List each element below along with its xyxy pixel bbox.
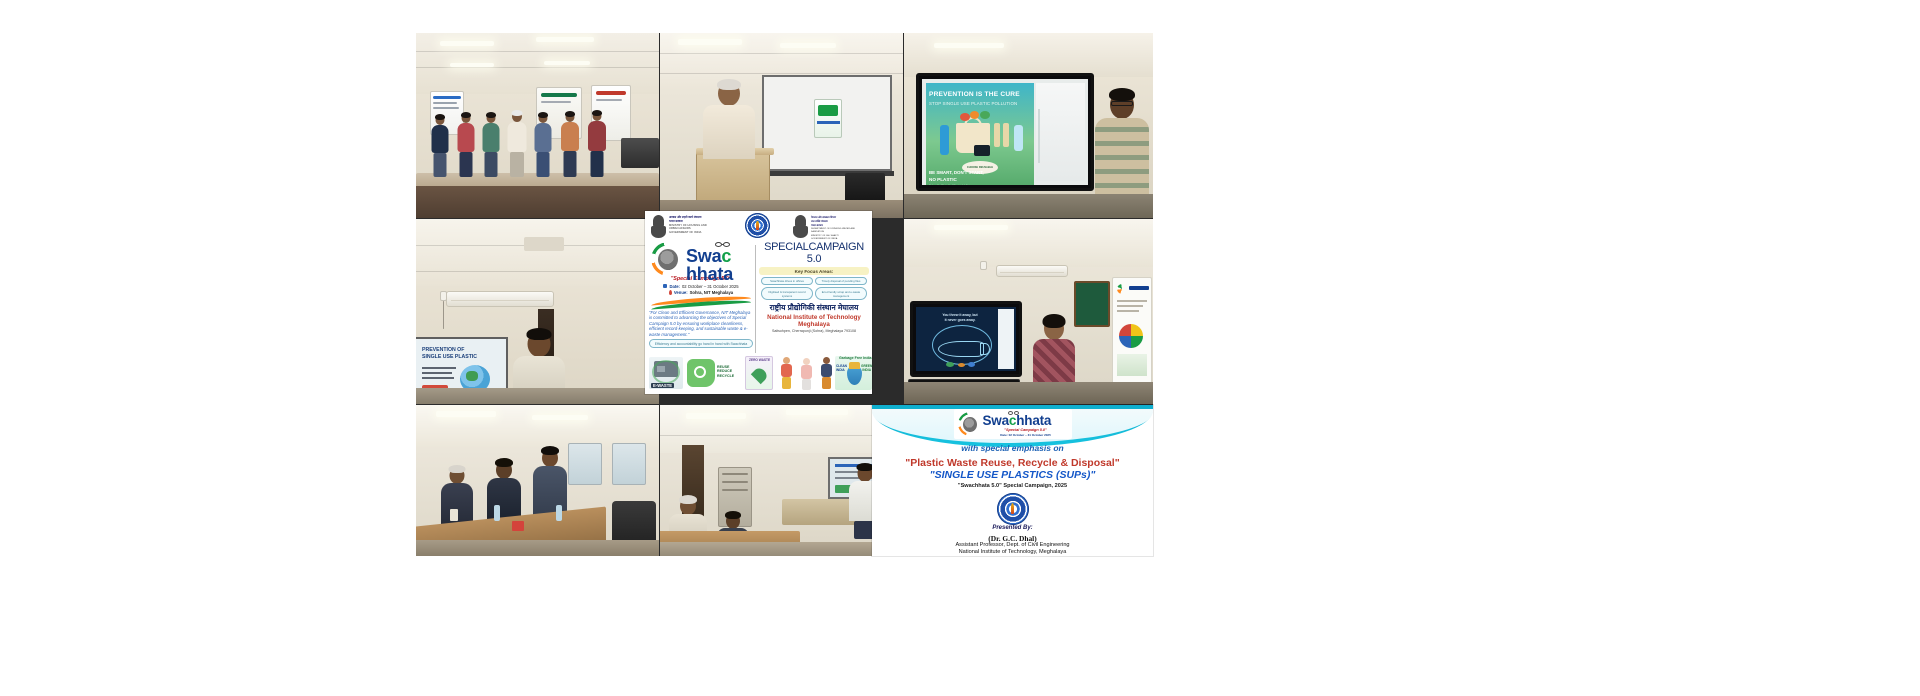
poster-bottom-tagline: "Special Campaign 5.0" xyxy=(983,428,1069,432)
icon-label-green-india: GREEN INDIA xyxy=(861,365,871,372)
photo-prevention-of-single-use-plastic-slide: PREVENTION OF SINGLE USE PLASTIC xyxy=(416,219,659,404)
person-speaker xyxy=(700,81,758,159)
institute-name-hindi: राष्ट्रीय प्रौद्योगिकी संस्थान मेघालय xyxy=(759,303,869,313)
icon-label-garbage-free-india: Garbage Free India xyxy=(839,356,872,360)
tv-poster-footer-line2: NO PLASTIC xyxy=(929,177,957,182)
swachhata-special-campaign-poster: आवास और शहरी कार्य मंत्रालय भारत सरकार M… xyxy=(645,211,872,394)
photo-prevention-is-the-cure-display: PREVENTION IS THE CURE STOP SINGLE USE P… xyxy=(904,33,1153,218)
poster-date-value: 02 October – 31 October 2025 xyxy=(682,284,739,289)
presented-by-label: Presented By: xyxy=(872,525,1153,531)
person xyxy=(430,115,450,177)
ministry-right-hindi3: भारत सरकार xyxy=(811,223,869,227)
tricolor-swoosh xyxy=(649,297,753,309)
calendar-icon xyxy=(663,284,667,288)
india-emblem-icon xyxy=(792,214,809,240)
air-conditioner xyxy=(446,291,554,307)
institute-name-english: National Institute of Technology Meghala… xyxy=(759,314,869,328)
poster-pledge-text: "For Clean and Efficient Governance, NIT… xyxy=(649,310,753,338)
tv-poster-footer-line1: BE SMART, DON'T START, xyxy=(929,170,984,175)
poster-efficiency-strip: Efficiency and accountability go hand in… xyxy=(649,339,753,348)
ministry-left-hindi2: भारत सरकार xyxy=(669,219,707,223)
poster-date-label: Date: xyxy=(669,284,679,289)
nit-meghalaya-logo-icon xyxy=(745,213,770,238)
campaign-line: "Swachhata 5.0" Special Campaign, 2025 xyxy=(872,483,1153,489)
ministry-right-line1: DEPARTMENT OF DRINKING WATER AND SANITAT… xyxy=(811,228,869,235)
ministry-left-line3: GOVERNMENT OF INDIA xyxy=(669,231,707,234)
topic-line-2: "SINGLE USE PLASTICS (SUPs)" xyxy=(872,469,1153,481)
person xyxy=(559,112,580,177)
icon-label-reuse-reduce-recycle: REUSE REDUCE RECYCLE xyxy=(717,365,743,378)
campaign-title: SPECIALCAMPAIGN 5.0 xyxy=(759,241,869,265)
poster-venue-label: Venue: xyxy=(674,290,688,295)
poster-header: आवास और शहरी कार्य मंत्रालय भारत सरकार M… xyxy=(645,211,872,237)
location-pin-icon xyxy=(669,290,672,295)
emphasis-line: with special emphasis on xyxy=(872,443,1153,453)
swachhata-standee xyxy=(1112,277,1152,385)
person xyxy=(456,113,476,177)
focus-area-item: Digitised & transparent record systems xyxy=(761,287,813,299)
screen-title-line2: SINGLE USE PLASTIC xyxy=(422,354,477,360)
air-conditioner xyxy=(996,265,1068,277)
institute-address: Saitsohpen, Cherrapunji (Sohra), Meghala… xyxy=(759,329,869,333)
person xyxy=(506,111,528,177)
topic-line-1: "Plastic Waste Reuse, Recycle & Disposal… xyxy=(872,457,1153,469)
poster-brand-wordmark: Swachhata xyxy=(686,247,753,283)
ocean-slide-line1: You threw it away, but xyxy=(924,313,996,317)
focus-area-item: Swachhata drives in offices xyxy=(761,277,813,285)
icon-label-clean-india: CLEAN INDIA xyxy=(836,365,846,372)
photo-ocean-plastic-awareness-display: You threw it away, but it never goes awa… xyxy=(904,219,1153,404)
poster-bottom-wordmark: Swachhata xyxy=(983,414,1052,428)
key-focus-areas-label: Key Focus Areas: xyxy=(759,267,869,275)
person xyxy=(533,113,553,177)
wall-mounted-tv: You threw it away, but it never goes awa… xyxy=(910,301,1022,377)
ocean-slide-line2: it never goes away. xyxy=(924,318,996,322)
presenter-role: Assistant Professor, Dept. of Civil Engi… xyxy=(872,542,1153,548)
photo-audience-at-conference-table xyxy=(416,405,659,556)
tv-poster-title-line1: PREVENTION IS THE CURE xyxy=(929,91,1031,98)
india-emblem-icon xyxy=(650,214,667,240)
photo-speaker-in-classroom xyxy=(660,405,903,556)
person-seated xyxy=(486,461,522,519)
presenter-org: National Institute of Technology, Meghal… xyxy=(872,549,1153,555)
screen-title-line1: PREVENTION OF xyxy=(422,347,464,353)
poster-icon-strip: E-WASTE REUSE REDUCE RECYCLE ZERO WASTE xyxy=(649,355,868,391)
focus-area-item: Timely disposal of pending files xyxy=(815,277,867,285)
poster-bottom-brand: Swachhata "Special Campaign 5.0" Date: 0… xyxy=(954,409,1072,439)
poster-venue-value: Sohra, NIT Meghalaya xyxy=(690,290,734,295)
nit-meghalaya-logo-icon xyxy=(997,493,1029,525)
focus-area-item: Eco-friendly scrap and e-waste managemen… xyxy=(815,287,867,299)
projector-screen xyxy=(762,75,892,171)
tv-poster-title-line2: STOP SINGLE USE PLASTIC POLLUTION xyxy=(929,101,1031,106)
poster-campaign-panel: SPECIALCAMPAIGN 5.0 Key Focus Areas: Swa… xyxy=(759,241,869,333)
photo-collage: PREVENTION IS THE CURE STOP SINGLE USE P… xyxy=(416,33,1153,556)
poster-bottom-dates: Date: 02 October – 31 October 2025 xyxy=(983,433,1069,437)
person xyxy=(586,111,607,177)
icon-label-e-waste: E-WASTE xyxy=(651,383,674,388)
photo-group-photo-seminar-hall xyxy=(416,33,659,218)
presentation-title-poster: Swachhata "Special Campaign 5.0" Date: 0… xyxy=(872,405,1153,556)
wall-mounted-tv: PREVENTION IS THE CURE STOP SINGLE USE P… xyxy=(916,73,1094,191)
photo-speaker-at-podium xyxy=(660,33,903,218)
person xyxy=(481,113,501,177)
icon-label-zero-waste: ZERO WASTE xyxy=(749,358,770,362)
poster-brand-panel: Swachhata "Special Campaign 5.0" Date: 0… xyxy=(649,241,753,348)
tv-awareness-poster: PREVENTION IS THE CURE STOP SINGLE USE P… xyxy=(926,83,1034,185)
